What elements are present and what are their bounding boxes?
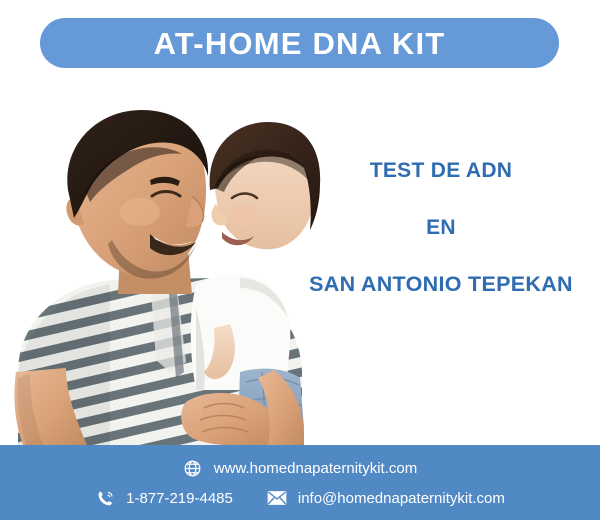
phone-contact-item[interactable]: 1-877-219-4485: [95, 488, 233, 508]
envelope-icon: [267, 488, 287, 508]
website-text: www.homednapaternitykit.com: [214, 461, 417, 476]
email-text: info@homednapaternitykit.com: [298, 491, 505, 506]
footer-website-row: www.homednapaternitykit.com: [0, 458, 600, 478]
headline-line-2: EN: [288, 217, 594, 238]
website-contact-item[interactable]: www.homednapaternitykit.com: [183, 458, 417, 478]
footer-contact-row: 1-877-219-4485 info@homednapaternitykit.…: [0, 488, 600, 508]
poster-canvas: AT-HOME DNA KIT: [0, 0, 600, 520]
email-contact-item[interactable]: info@homednapaternitykit.com: [267, 488, 505, 508]
header-banner: AT-HOME DNA KIT: [40, 18, 559, 68]
globe-icon: [183, 458, 203, 478]
headline-line-3: SAN ANTONIO TEPEKAN: [288, 274, 594, 296]
footer-contact-bar: www.homednapaternitykit.com 1-877-219-44…: [0, 445, 600, 520]
phone-icon: [95, 488, 115, 508]
headline-block: TEST DE ADN EN SAN ANTONIO TEPEKAN: [288, 160, 594, 296]
header-title: AT-HOME DNA KIT: [154, 28, 446, 59]
headline-line-1: TEST DE ADN: [288, 160, 594, 181]
phone-text: 1-877-219-4485: [126, 491, 233, 506]
